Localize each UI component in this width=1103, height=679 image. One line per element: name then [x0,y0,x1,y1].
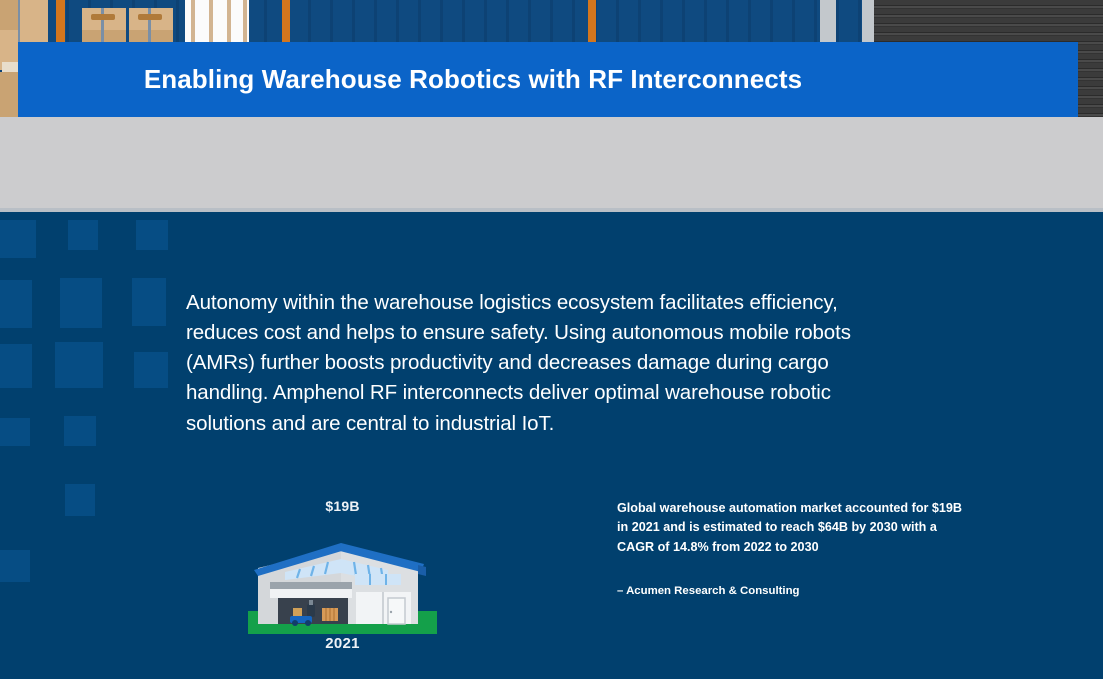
forklift-wheel [292,620,298,626]
gray-divider-band [0,117,1103,212]
decor-square [0,220,36,258]
page-title: Enabling Warehouse Robotics with RF Inte… [18,42,1078,117]
interior-equipment [307,604,315,617]
source-attribution: – Acumen Research & Consulting [617,585,969,597]
box-strap-icon [138,14,162,20]
side-window-band [355,574,401,585]
stat-value-label: $19B [240,498,445,514]
market-statement: Global warehouse automation market accou… [617,499,969,557]
decor-square [0,550,30,582]
decor-square [132,278,166,326]
decor-square [0,280,32,328]
title-banner: Enabling Warehouse Robotics with RF Inte… [18,42,1078,117]
forklift-wheel [305,620,311,626]
warehouse-building-illustration [240,524,445,634]
roof-eave [418,565,426,576]
decor-square [65,484,95,516]
decor-square [68,220,98,250]
box-strap-icon [91,14,115,20]
decor-square [134,352,168,388]
stat-year-label: 2021 [240,635,445,652]
interior-equipment-arm [309,600,313,605]
door-handle [390,611,392,613]
decor-square [0,418,30,446]
infographic-page: Enabling Warehouse Robotics with RF Inte… [0,0,1103,679]
decor-square [136,220,168,250]
decor-square [60,278,102,328]
main-content-panel [0,212,1103,679]
warehouse-stat-graphic: $19B [240,498,445,663]
decor-square [0,344,32,388]
decor-square [64,416,96,446]
lead-paragraph: Autonomy within the warehouse logistics … [186,288,911,439]
door-header-panel [270,589,352,598]
decor-square [55,342,103,388]
